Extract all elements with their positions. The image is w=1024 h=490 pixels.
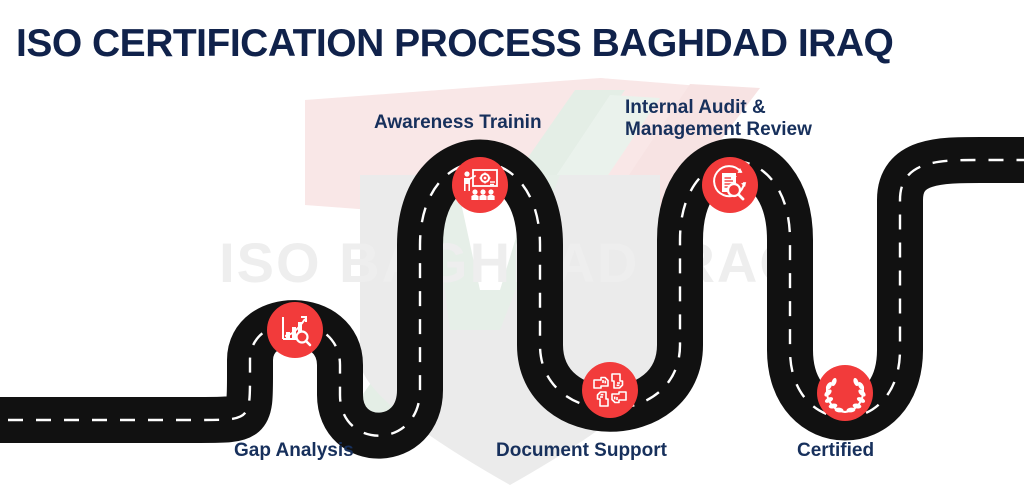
- iso-certification-roadmap-infographic: ISO BAGHDAD IRAQ: [0, 0, 1024, 490]
- step-label-document-support: Document Support: [496, 440, 667, 462]
- step-label-awareness-training: Awareness Trainin: [374, 112, 542, 134]
- step-label-gap-analysis: Gap Analysis: [234, 440, 354, 462]
- step-label-certified: Certified: [797, 440, 874, 462]
- page-title: ISO CERTIFICATION PROCESS BAGHDAD IRAQ: [16, 22, 1016, 66]
- step-label-internal-audit: Internal Audit & Management Review: [625, 97, 812, 142]
- step-labels: Gap Analysis Awareness Trainin Internal …: [0, 0, 1024, 490]
